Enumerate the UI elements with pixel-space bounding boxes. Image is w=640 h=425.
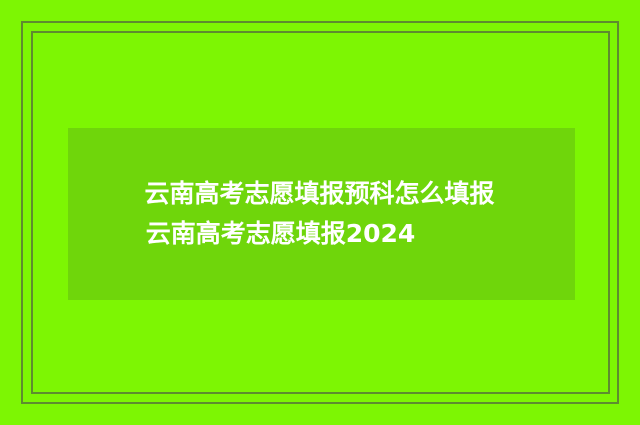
title-line-2: 云南高考志愿填报2024 [68,214,575,254]
title-block: 云南高考志愿填报预科怎么填报 云南高考志愿填报2024 [68,174,575,254]
content-panel: 云南高考志愿填报预科怎么填报 云南高考志愿填报2024 [68,128,575,300]
banner-image: 云南高考志愿填报预科怎么填报 云南高考志愿填报2024 [0,0,640,425]
title-line-1: 云南高考志愿填报预科怎么填报 [68,174,575,214]
